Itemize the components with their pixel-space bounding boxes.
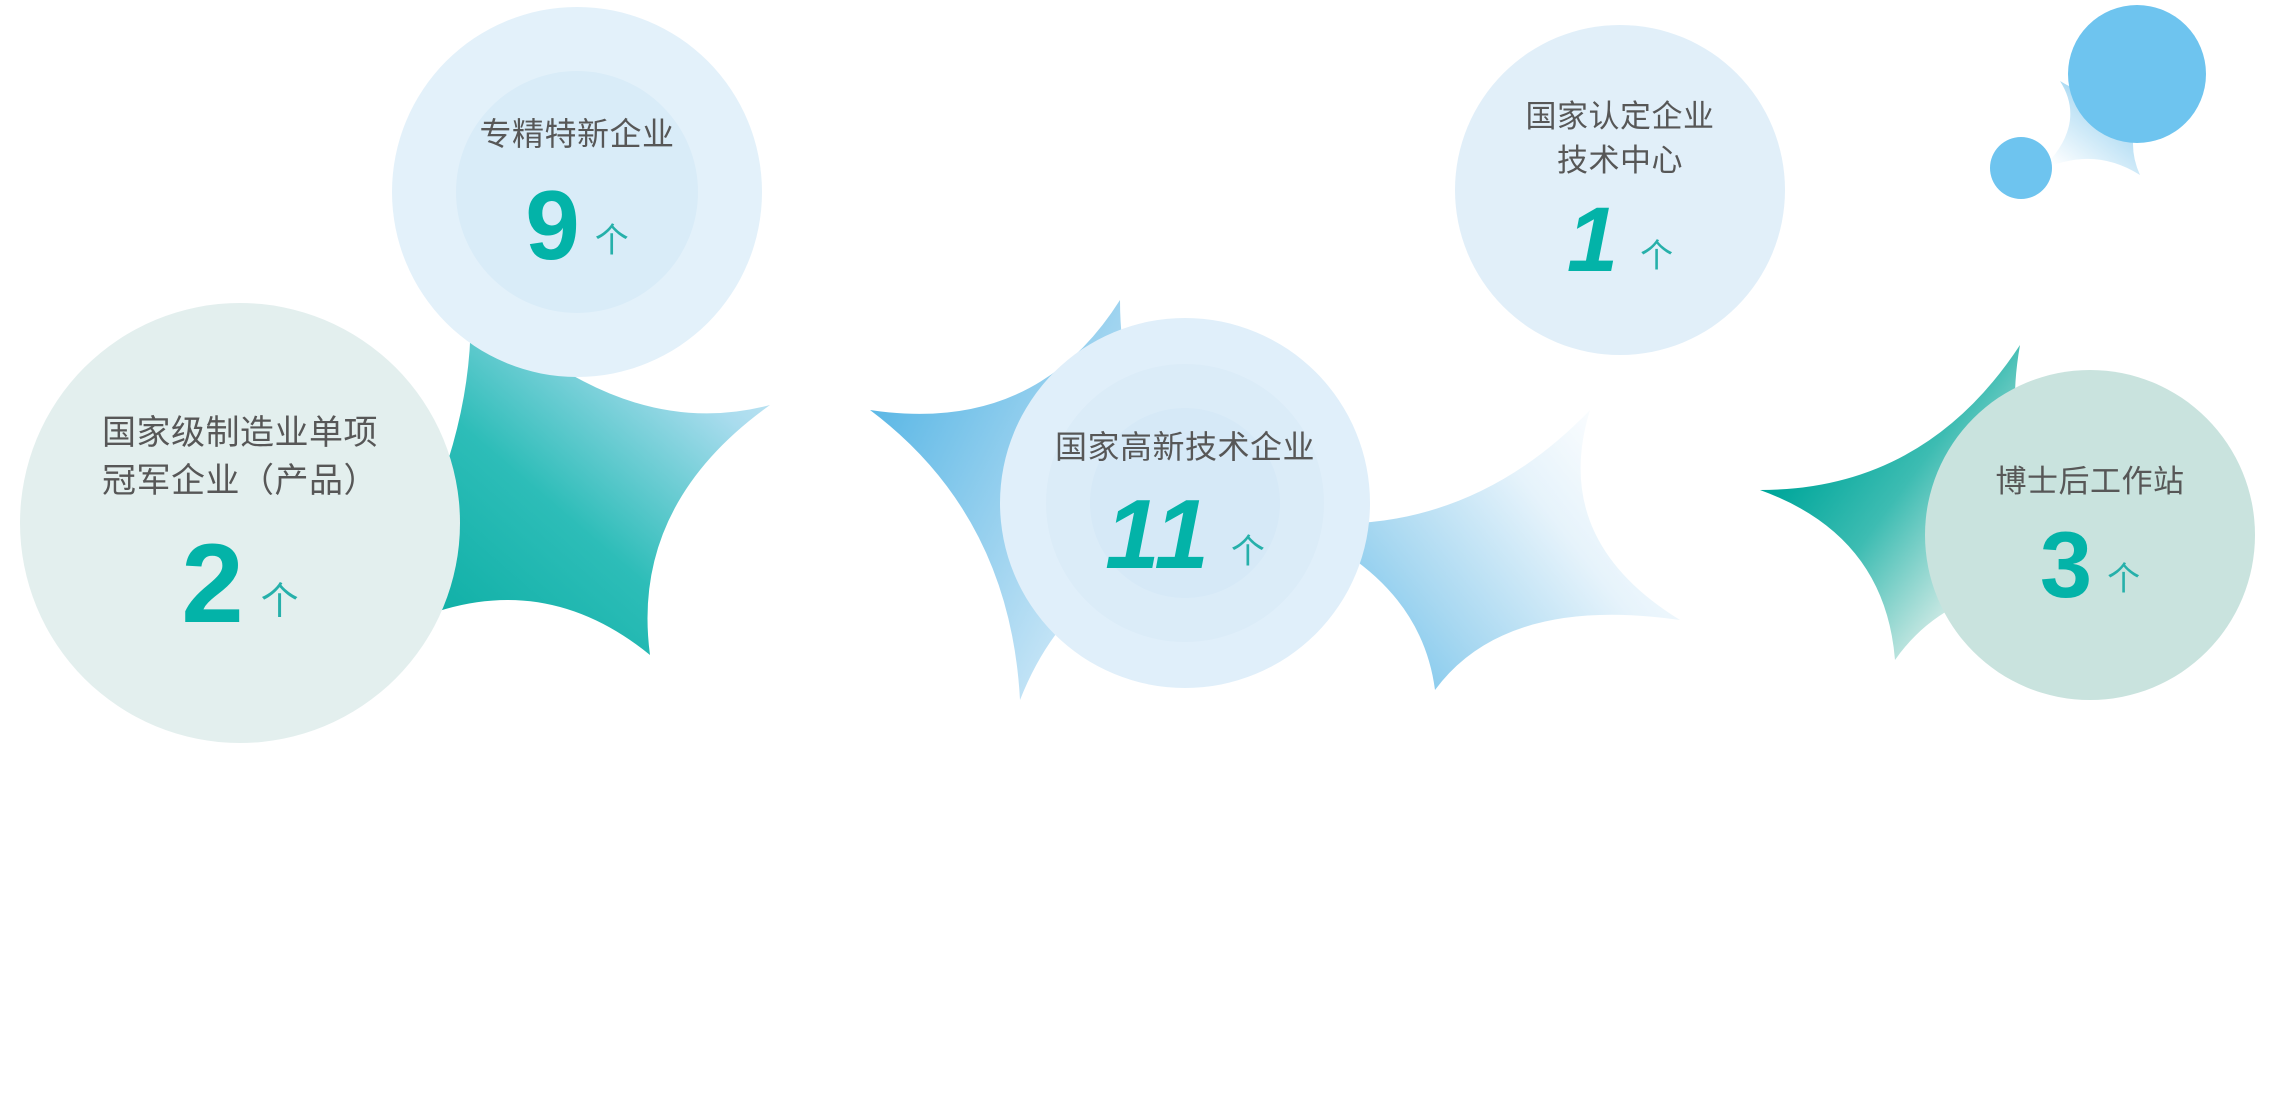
infographic-canvas: 国家级制造业单项 冠军企业（产品） 2 个 专精特新企业 9 个 国家高新技术企… — [0, 0, 2289, 1103]
node-label-4: 国家认定企业 技术中心 — [1526, 95, 1715, 183]
node-postdoctoral-workstation[interactable]: 博士后工作站 3 个 — [1925, 370, 2255, 700]
node-value-row-1: 2 个 — [181, 531, 298, 637]
node-national-high-tech-enterprise[interactable]: 国家高新技术企业 11 个 — [1000, 318, 1370, 688]
node-number-1: 2 — [181, 531, 242, 637]
node-label-2: 专精特新企业 — [479, 112, 674, 157]
node-number-4: 1 — [1567, 197, 1620, 284]
node-unit-1: 个 — [261, 570, 299, 625]
node-value-row-5: 3 个 — [2040, 520, 2140, 609]
decorative-dot-small — [1990, 137, 2052, 199]
node-unit-2: 个 — [595, 213, 629, 262]
decorative-dot-large — [2068, 5, 2206, 143]
node-number-5: 3 — [2040, 520, 2091, 609]
node-national-enterprise-tech-center[interactable]: 国家认定企业 技术中心 1 个 — [1455, 25, 1785, 355]
node-unit-5: 个 — [2107, 552, 2140, 600]
node-label-3: 国家高新技术企业 — [1055, 425, 1315, 470]
node-value-row-4: 1 个 — [1567, 197, 1673, 284]
node-specialized-new-enterprise[interactable]: 专精特新企业 9 个 — [392, 7, 762, 377]
node-value-row-3: 11 个 — [1105, 488, 1265, 581]
node-number-2: 9 — [525, 179, 579, 272]
node-value-row-2: 9 个 — [525, 179, 629, 272]
node-unit-4: 个 — [1640, 229, 1673, 277]
node-label-5: 博士后工作站 — [1996, 460, 2185, 504]
node-label-1: 国家级制造业单项 冠军企业（产品） — [102, 409, 378, 506]
node-number-3: 11 — [1105, 488, 1211, 581]
node-unit-3: 个 — [1231, 524, 1265, 573]
